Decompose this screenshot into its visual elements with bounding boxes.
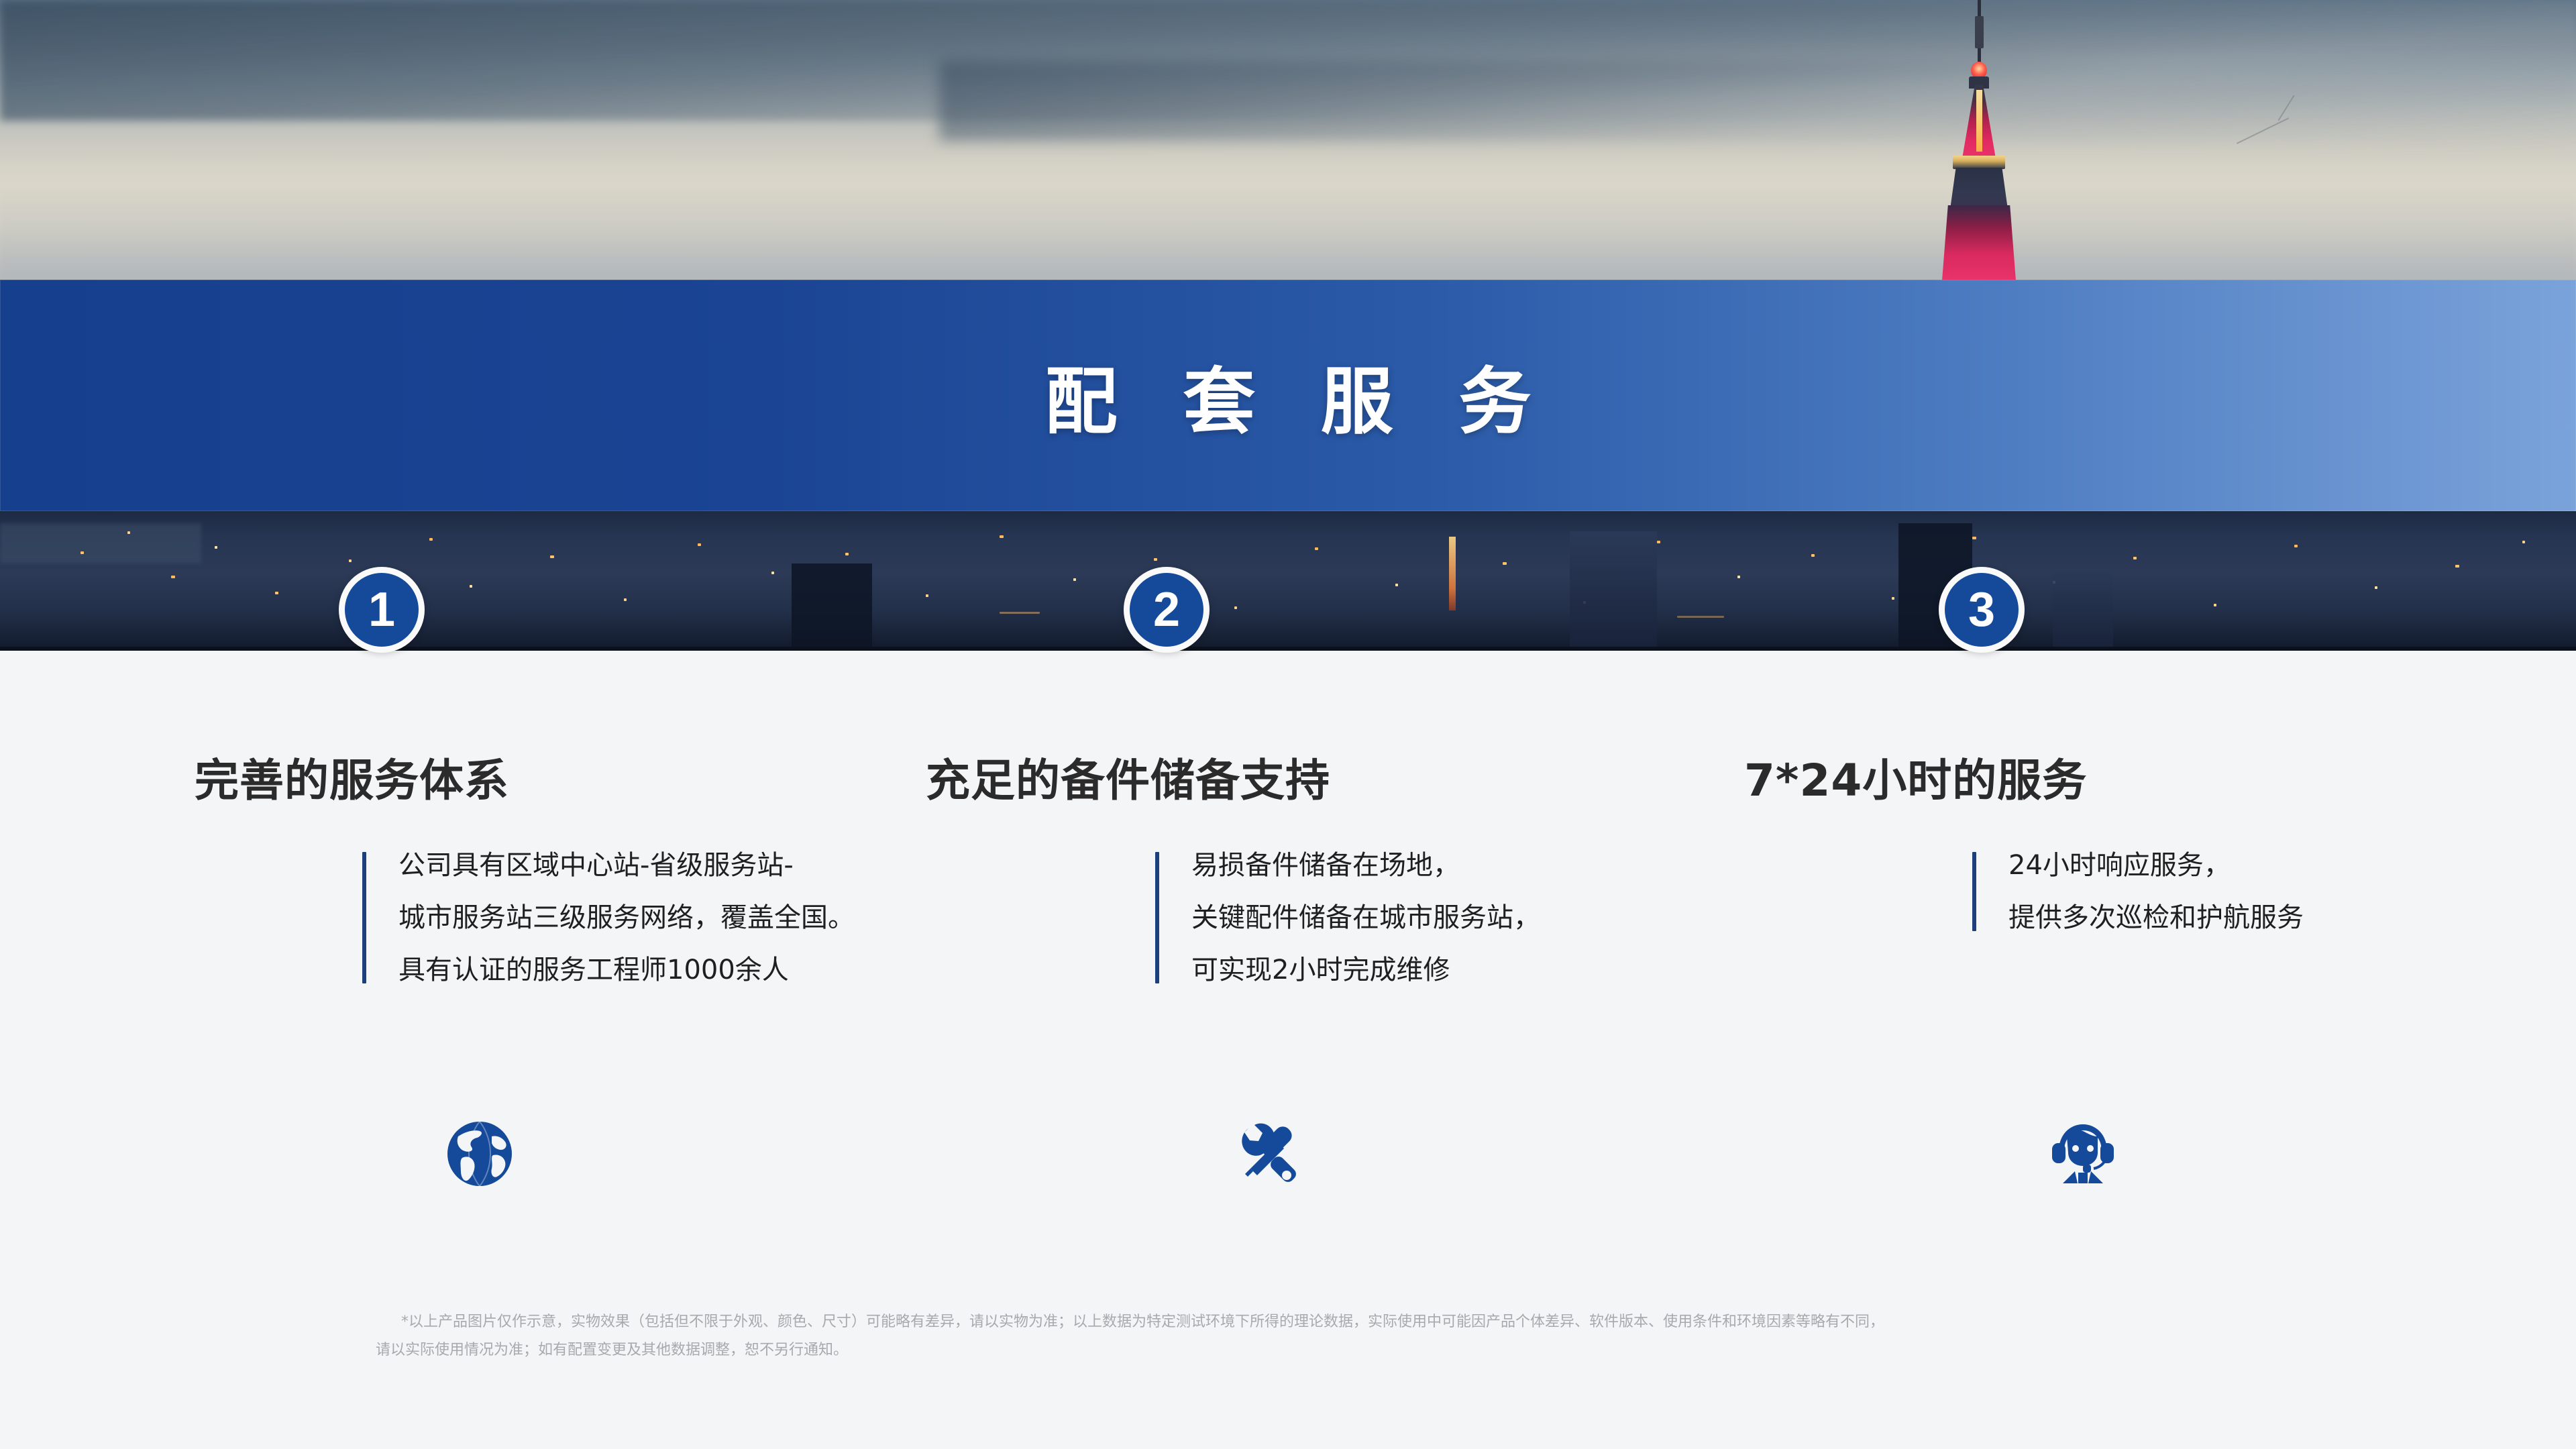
column-heading-1: 完善的服务体系 [195,745,509,809]
column-body-3: 24小时响应服务， 提供多次巡检和护航服务 [1972,852,2304,931]
step-badge-2: 2 [1124,567,1210,653]
body-line: 具有认证的服务工程师1000余人 [398,957,855,983]
observation-deck-band [1953,156,2005,169]
tower-base-lit [1942,205,2016,280]
globe-icon [439,1114,520,1194]
column-heading-2: 充足的备件储备支持 [926,745,1330,809]
title-banner: 配 套 服 务 [0,280,2576,511]
column-body-lines-3: 24小时响应服务， 提供多次巡检和护航服务 [1976,852,2304,931]
city-tower-d [2053,570,2113,651]
body-line: 公司具有区域中心站-省级服务站- [398,852,855,879]
body-line: 易损备件储备在场地， [1191,852,1540,879]
footnote-disclaimer: *以上产品图片仅作示意，实物效果（包括但不限于外观、颜色、尺寸）可能略有差异，请… [376,1308,2187,1364]
body-line: 城市服务站三级服务网络，覆盖全国。 [398,904,855,931]
spire-lit-column [1976,90,1982,152]
column-body-2: 易损备件储备在场地， 关键配件储备在城市服务站， 可实现2小时完成维修 [1155,852,1540,983]
cloud-layer-right [939,60,2576,141]
city-dark-tower-a [792,563,872,651]
column-body-lines-1: 公司具有区域中心站-省级服务站- 城市服务站三级服务网络，覆盖全国。 具有认证的… [366,852,855,983]
column-heading-3: 7*24小时的服务 [1744,745,2087,809]
body-line: 提供多次巡检和护航服务 [2008,904,2304,931]
slide-root: 配 套 服 务 [0,0,2576,1449]
lit-spire [1449,537,1456,610]
step-badge-3: 3 [1939,567,2025,653]
footnote-line-1: *以上产品图片仅作示意，实物效果（包括但不限于外观、颜色、尺寸）可能略有差异，请… [376,1308,2187,1336]
body-line: 24小时响应服务， [2008,852,2304,879]
thin-antenna-wire [2234,94,2314,134]
column-body-1: 公司具有区域中心站-省级服务站- 城市服务站三级服务网络，覆盖全国。 具有认证的… [362,852,855,983]
horizon-haze [0,180,2576,280]
body-line: 可实现2小时完成维修 [1191,957,1540,983]
feature-columns: 1 完善的服务体系 公司具有区域中心站-省级服务站- 城市服务站三级服务网络，覆… [0,651,2576,1254]
city-tower-b [1570,531,1657,651]
body-line: 关键配件储备在城市服务站， [1191,904,1540,931]
footnote-line-2: 请以实际使用情况为准；如有配置变更及其他数据调整，恕不另行通知。 [376,1336,2187,1364]
headset-support-icon [2043,1114,2123,1194]
step-badge-1: 1 [339,567,425,653]
column-body-lines-2: 易损备件储备在场地， 关键配件储备在城市服务站， 可实现2小时完成维修 [1159,852,1540,983]
observation-deck [1950,168,2008,209]
page-title: 配 套 服 务 [1025,343,1552,448]
tools-icon [1228,1114,1308,1194]
sky-photo-background [0,0,2576,280]
empire-state-building-spire [1935,0,2023,280]
antenna-mast-lower [1975,16,1984,48]
